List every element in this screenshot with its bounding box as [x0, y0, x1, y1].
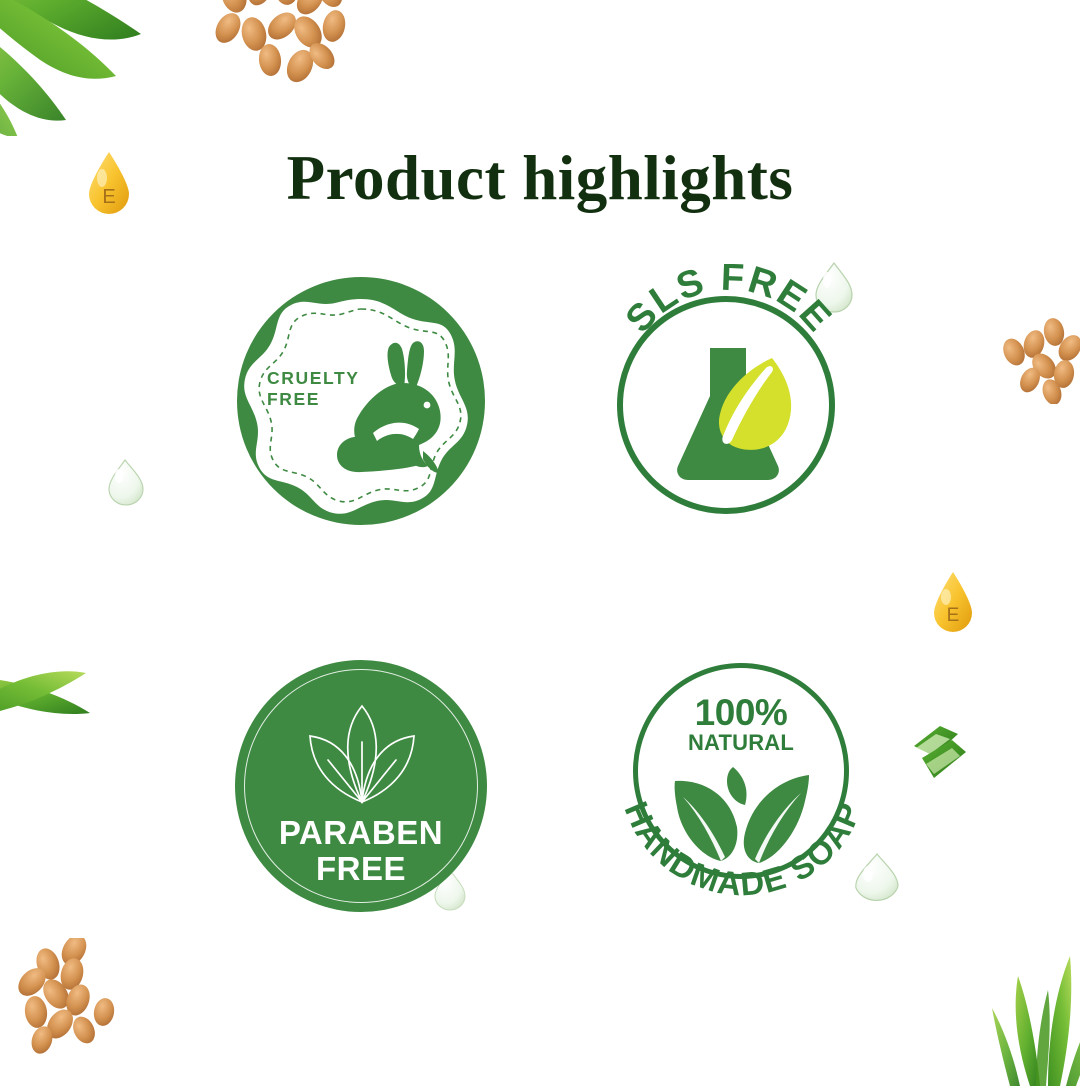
cruelty-free-badge[interactable]: CRUELTY FREE [237, 277, 485, 525]
svg-text:SLS FREE: SLS FREE [618, 264, 840, 341]
aloe-leaves-icon [0, 655, 114, 745]
flask-leaf-icon [662, 344, 812, 484]
infographic-canvas: E [0, 0, 1080, 1080]
aloe-leaves-icon [0, 0, 216, 136]
handmade-soap-arc-text: HANDMADE SOAP [613, 643, 873, 915]
svg-text:E: E [947, 605, 960, 626]
aloe-slice-icon [900, 712, 982, 794]
paraben-free-badge[interactable]: PARABEN FREE [235, 660, 487, 912]
rabbit-icon [327, 333, 475, 481]
handmade-soap-badge[interactable]: 100% NATURAL HANDMADE SOAP [623, 655, 863, 913]
aloe-plant-icon [978, 938, 1080, 1086]
sls-free-badge[interactable]: SLS FREE [617, 270, 841, 520]
vitamin-e-drop-icon: E [930, 570, 976, 634]
paraben-free-label: PARABEN FREE [235, 815, 487, 887]
svg-text:HANDMADE SOAP: HANDMADE SOAP [618, 796, 869, 902]
water-drop-icon [104, 456, 148, 508]
leaf-fan-line-icon [288, 698, 436, 808]
almonds-icon [1000, 318, 1080, 404]
page-title: Product highlights [0, 142, 1080, 215]
almonds-icon [212, 0, 352, 92]
almonds-icon [18, 938, 150, 1058]
